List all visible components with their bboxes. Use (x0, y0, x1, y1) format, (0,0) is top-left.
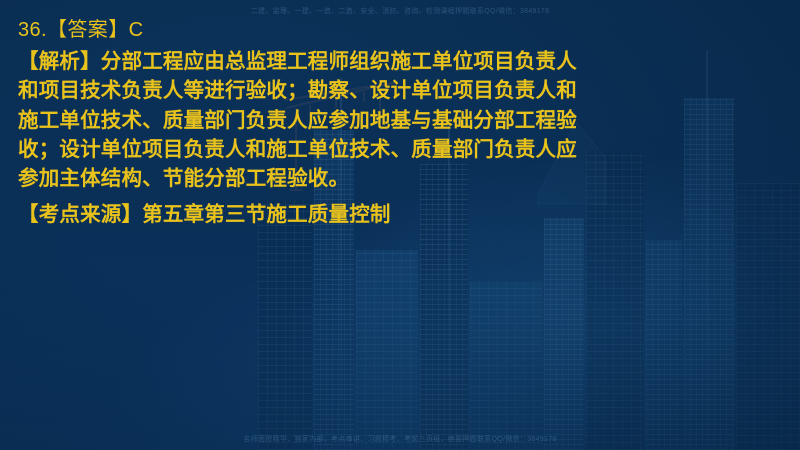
knowledge-source-line: 【考点来源】第五章第三节施工质量控制 (18, 200, 778, 229)
analysis-line: 收；设计单位项目负责人和施工单位技术、质量部门负责人应 (18, 135, 590, 164)
analysis-line: 和项目技术负责人等进行验收；勘察、设计单位项目负责人和 (18, 76, 590, 105)
analysis-paragraph: 【解析】分部工程应由总监理工程师组织施工单位项目负责人 和项目技术负责人等进行验… (18, 47, 590, 194)
analysis-line: 参加主体结构、节能分部工程验收。 (18, 164, 590, 193)
watermark-bottom: 名师面授精华、独家内部、考点串讲、习题精考、考前三页纸，绝密押题联系QQ/微信：… (0, 434, 800, 444)
analysis-line: 【解析】分部工程应由总监理工程师组织施工单位项目负责人 (18, 47, 590, 76)
slide-canvas: 二建、监理、一建、一造、二造、安全、消防、咨询、检测课程押题联系QQ/微信：38… (0, 0, 800, 450)
analysis-line: 施工单位技术、质量部门负责人应参加地基与基础分部工程验 (18, 106, 590, 135)
answer-line: 36.【答案】C (18, 16, 778, 45)
slide-content: 36.【答案】C 【解析】分部工程应由总监理工程师组织施工单位项目负责人 和项目… (0, 0, 800, 229)
